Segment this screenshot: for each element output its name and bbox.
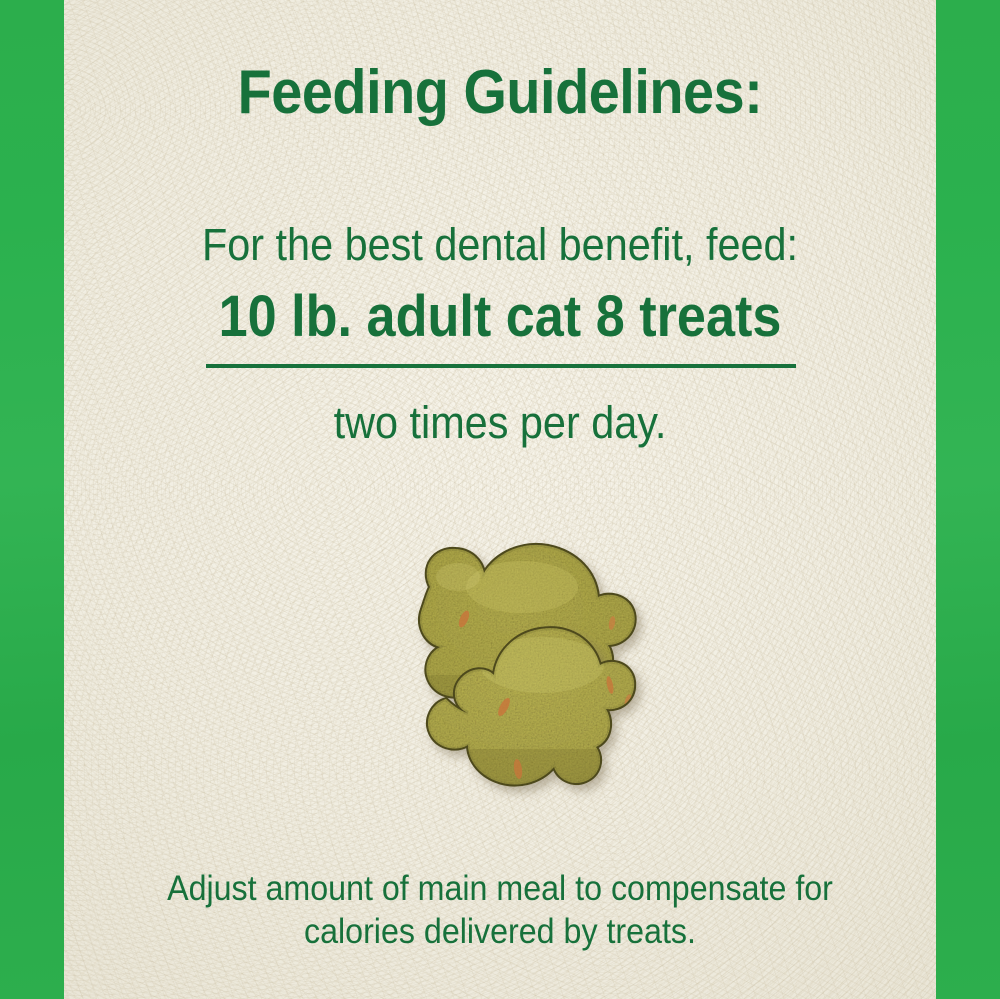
lead-instruction-text: For the best dental benefit, feed:	[99, 222, 901, 267]
content-column: Feeding Guidelines: For the best dental …	[64, 0, 936, 999]
treats-illustration	[372, 525, 672, 825]
footnote-line-1: Adjust amount of main meal to compensate…	[99, 868, 901, 911]
dose-underline-rule	[206, 364, 796, 368]
left-green-band	[0, 0, 64, 999]
footnote-text: Adjust amount of main meal to compensate…	[99, 868, 901, 953]
dose-instruction-text: 10 lb. adult cat 8 treats	[108, 288, 893, 346]
cat-treats-image	[372, 525, 672, 825]
right-green-band	[936, 0, 1000, 999]
footnote-line-2: calories delivered by treats.	[99, 911, 901, 954]
page-title: Feeding Guidelines:	[108, 62, 893, 124]
frequency-text: two times per day.	[99, 400, 901, 445]
right-band-base	[936, 0, 1000, 999]
feeding-guidelines-panel: Feeding Guidelines: For the best dental …	[0, 0, 1000, 999]
left-band-base	[0, 0, 64, 999]
